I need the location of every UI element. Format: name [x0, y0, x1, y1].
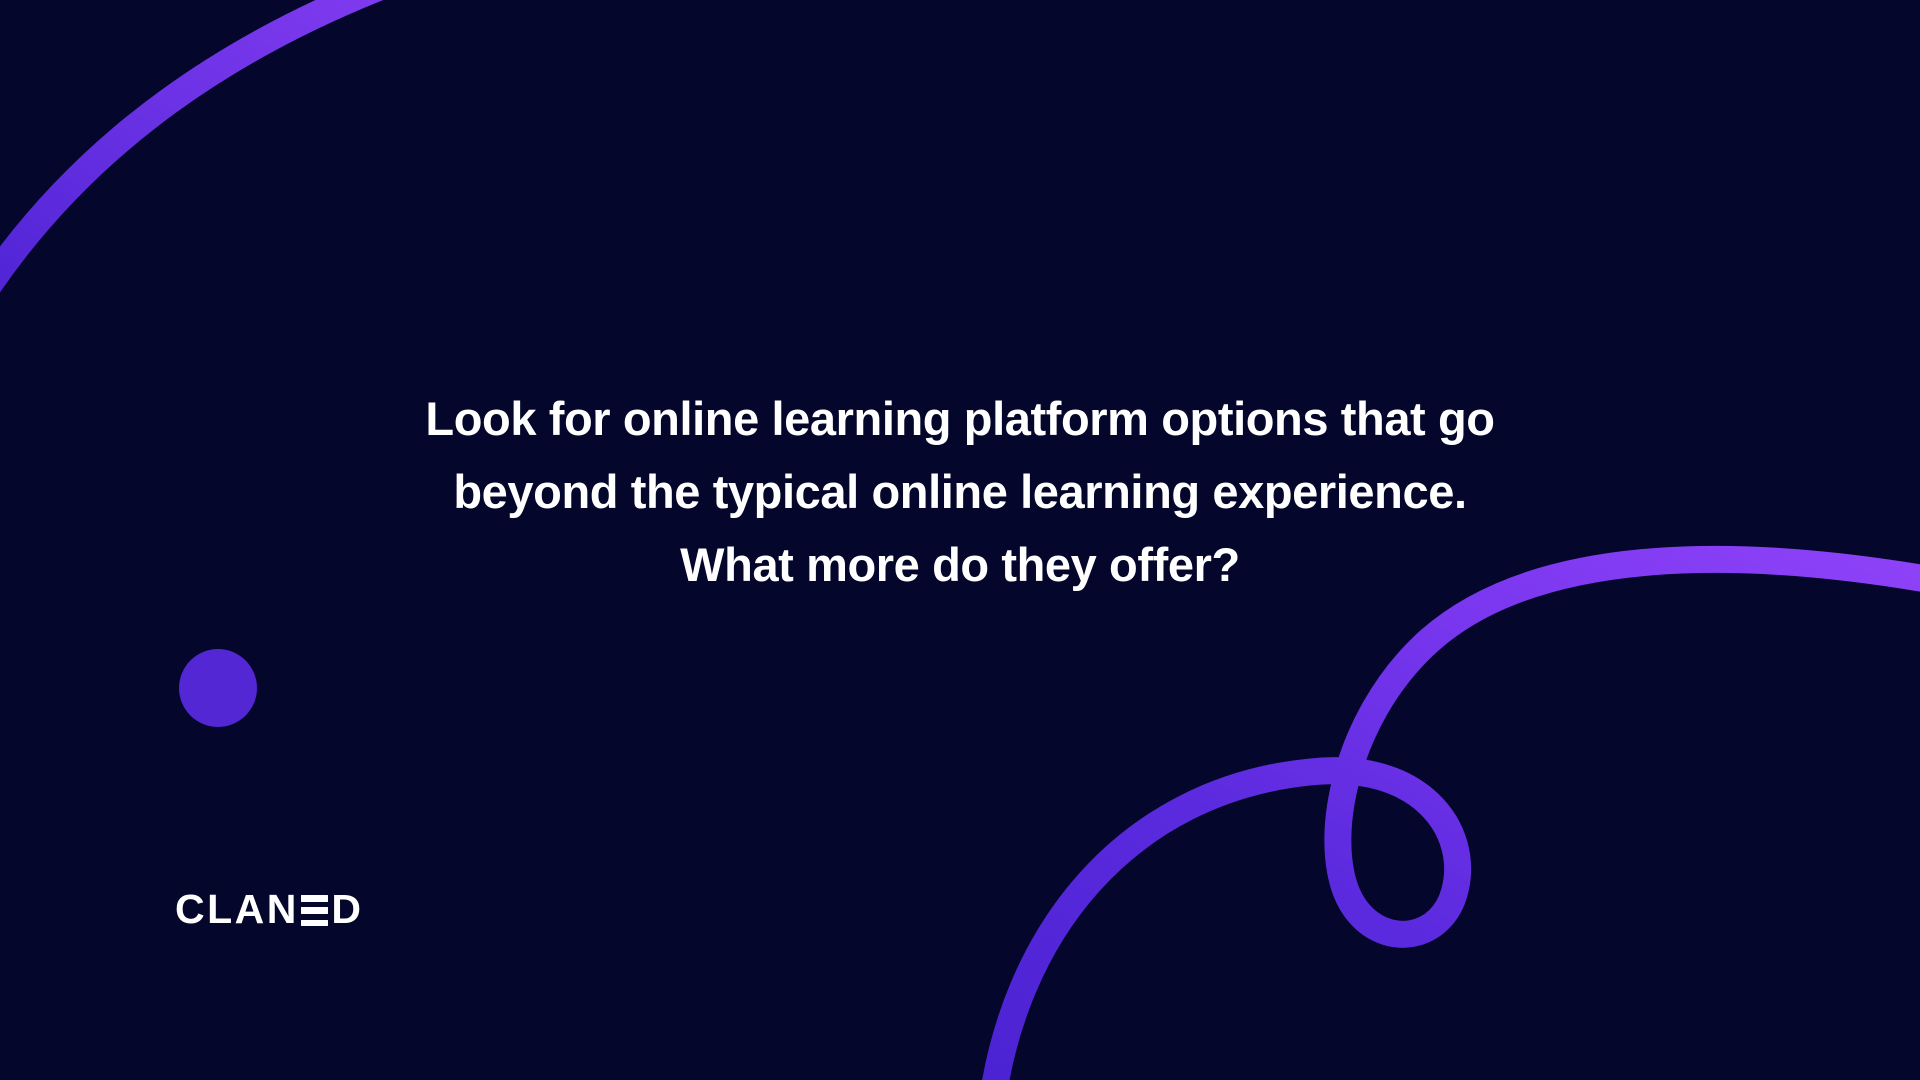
headline-line-2: beyond the typical online learning exper…	[290, 455, 1630, 528]
purple-circle-decoration	[179, 649, 257, 727]
bottom-right-loop-decoration	[990, 559, 1920, 1080]
logo-wordmark: CLAND	[175, 886, 363, 932]
logo-stylized-e-icon	[301, 895, 328, 926]
top-left-arc-decoration	[0, 0, 520, 330]
slide-canvas: Look for online learning platform option…	[0, 0, 1920, 1080]
headline: Look for online learning platform option…	[290, 382, 1630, 601]
logo-text-after-e: D	[331, 886, 363, 932]
headline-line-1: Look for online learning platform option…	[290, 382, 1630, 455]
claned-logo: CLAND	[175, 886, 363, 932]
logo-text-before-e: CLAN	[175, 886, 299, 932]
headline-line-3: What more do they offer?	[290, 528, 1630, 601]
